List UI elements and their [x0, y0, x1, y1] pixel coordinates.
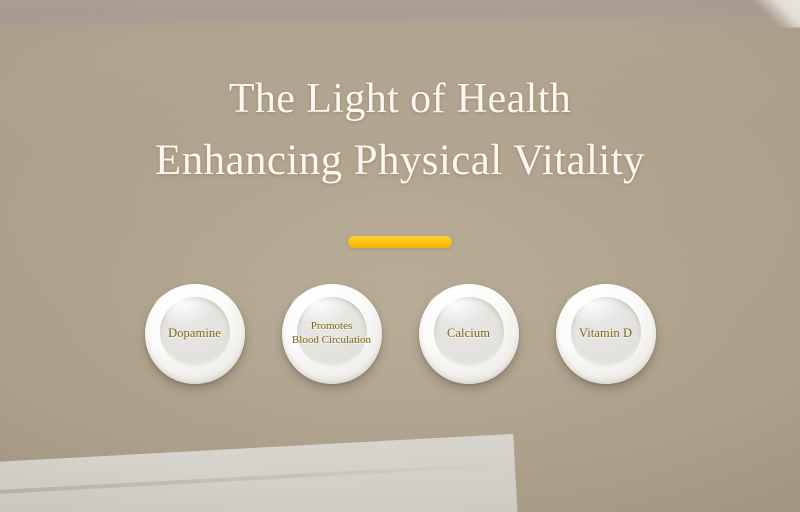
- pill-blood-circulation[interactable]: PromotesBlood Circulation: [282, 284, 382, 384]
- pill-label: PromotesBlood Circulation: [292, 320, 371, 348]
- pill-list: DopaminePromotesBlood CirculationCalcium…: [0, 284, 800, 384]
- pill-calcium[interactable]: Calcium: [419, 284, 519, 384]
- pill-label: Dopamine: [168, 326, 221, 342]
- background-corner-sliver: [734, 0, 800, 29]
- pill-label-line: Promotes: [292, 320, 371, 334]
- headline-line-2: Enhancing Physical Vitality: [0, 130, 800, 191]
- pill-label-line: Calcium: [447, 326, 490, 342]
- poster-canvas: The Light of Health Enhancing Physical V…: [0, 0, 800, 512]
- gold-divider-bar: [348, 236, 452, 248]
- pill-label-line: Blood Circulation: [292, 334, 371, 348]
- pill-label: Calcium: [447, 326, 490, 342]
- pill-label-line: Vitamin D: [579, 326, 632, 342]
- pill-label: Vitamin D: [579, 326, 632, 342]
- pill-label-line: Dopamine: [168, 326, 221, 342]
- pill-vitamin-d[interactable]: Vitamin D: [556, 284, 656, 384]
- divider-container: [0, 236, 800, 248]
- page-title: The Light of Health Enhancing Physical V…: [0, 70, 800, 191]
- pill-dopamine[interactable]: Dopamine: [145, 284, 245, 384]
- headline-line-1: The Light of Health: [0, 70, 800, 130]
